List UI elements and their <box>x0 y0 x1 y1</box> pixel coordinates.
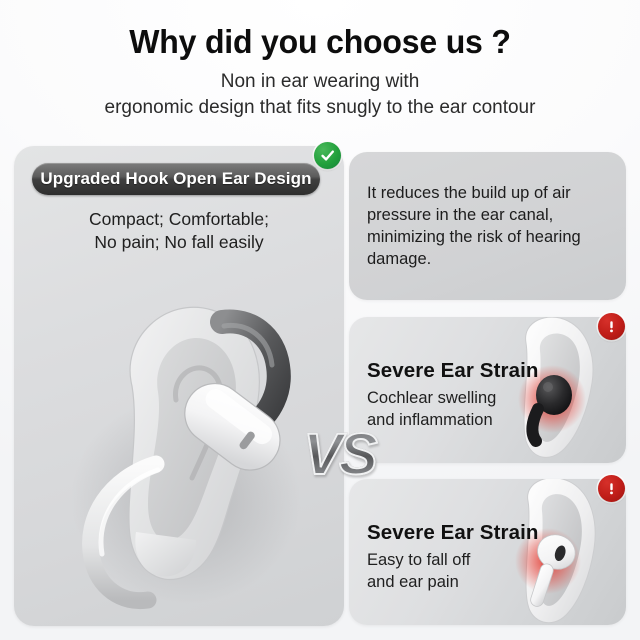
problem-subtext-line-1: Cochlear swelling <box>367 387 496 409</box>
problem-panel-stem-earbud: Severe Ear Strain Easy to fall off and e… <box>349 479 626 625</box>
benefit-body-text: It reduces the build up of air pressure … <box>367 182 613 270</box>
product-highlight-panel: Upgraded Hook Open Ear Design Compact; C… <box>14 146 344 626</box>
product-badge: Upgraded Hook Open Ear Design <box>32 163 320 195</box>
subtitle-line-1: Non in ear wearing with <box>0 69 640 95</box>
problem-subtext: Cochlear swelling and inflammation <box>367 387 496 431</box>
product-feature-line-2: No pain; No fall easily <box>14 231 344 254</box>
problem-subtext-line-2: and inflammation <box>367 409 496 431</box>
warning-icon <box>598 475 625 502</box>
problem-subtext-line-1: Easy to fall off <box>367 549 470 571</box>
benefit-panel: It reduces the build up of air pressure … <box>349 152 626 300</box>
product-feature-line-1: Compact; Comfortable; <box>14 208 344 231</box>
ear-with-black-inear-bud-image <box>482 317 622 463</box>
open-ear-hook-earphone-image <box>36 274 326 614</box>
infographic-poster: Why did you choose us ? Non in ear weari… <box>0 0 640 640</box>
problem-subtext: Easy to fall off and ear pain <box>367 549 470 593</box>
vs-comparison-mark: VS <box>296 424 382 486</box>
problem-title: Severe Ear Strain <box>367 521 539 545</box>
warning-icon <box>598 313 625 340</box>
problem-title: Severe Ear Strain <box>367 359 539 383</box>
subtitle-line-2: ergonomic design that fits snugly to the… <box>0 95 640 121</box>
product-badge-label: Upgraded Hook Open Ear Design <box>40 169 311 189</box>
poster-header: Why did you choose us ? Non in ear weari… <box>0 0 640 121</box>
page-title: Why did you choose us ? <box>10 0 631 62</box>
page-subtitle: Non in ear wearing with ergonomic design… <box>0 62 640 121</box>
problem-subtext-line-2: and ear pain <box>367 571 470 593</box>
product-feature-text: Compact; Comfortable; No pain; No fall e… <box>14 208 344 254</box>
check-icon <box>314 142 341 169</box>
ear-with-white-stem-earbud-image <box>482 479 622 625</box>
problem-panel-inear-bud: Severe Ear Strain Cochlear swelling and … <box>349 317 626 463</box>
